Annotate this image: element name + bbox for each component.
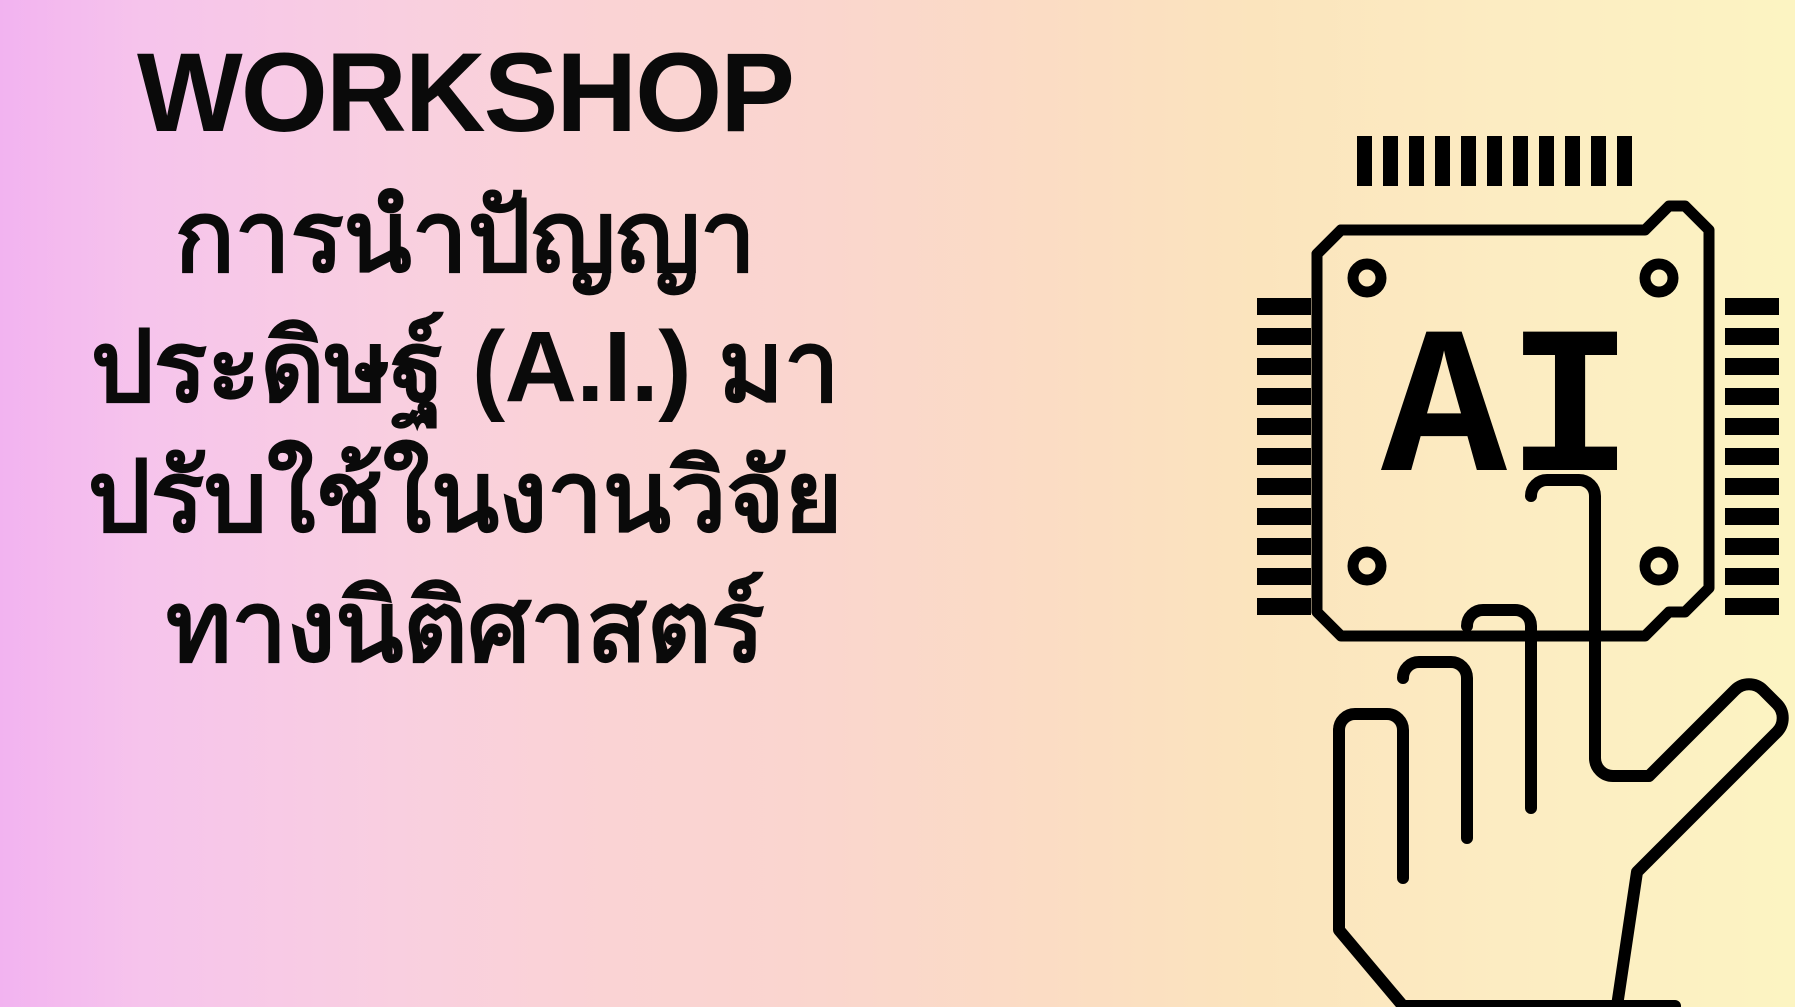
title-line-4: ปรับใช้ในงานวิจัย	[0, 432, 930, 562]
ai-chip-svg: AI	[1245, 118, 1795, 1007]
chip-top-pins-icon	[1357, 136, 1632, 186]
chip-screw-hole-bottom-right-icon	[1645, 552, 1673, 580]
title-line-1: WORKSHOP	[0, 36, 930, 150]
chip-screw-hole-top-right-icon	[1645, 264, 1673, 292]
title-line-3: ประดิษฐ์ (A.I.) มา	[0, 302, 930, 432]
chip-screw-hole-bottom-left-icon	[1353, 552, 1381, 580]
chip-corner-bevel-top-left	[1317, 230, 1341, 254]
title-line-2: การนำปัญญา	[0, 172, 930, 302]
chip-screw-hole-top-left-icon	[1353, 264, 1381, 292]
page-title: WORKSHOP การนำปัญญา ประดิษฐ์ (A.I.) มา ป…	[0, 36, 930, 692]
hand-illustration-icon	[1339, 480, 1783, 1006]
ai-chip-with-hand-illustration: AI	[1245, 118, 1795, 1007]
chip-left-pins-icon	[1257, 298, 1311, 615]
title-line-5: ทางนิติศาสตร์	[0, 562, 930, 692]
poster-canvas: WORKSHOP การนำปัญญา ประดิษฐ์ (A.I.) มา ป…	[0, 0, 1795, 1007]
chip-right-pins-icon	[1725, 298, 1779, 615]
